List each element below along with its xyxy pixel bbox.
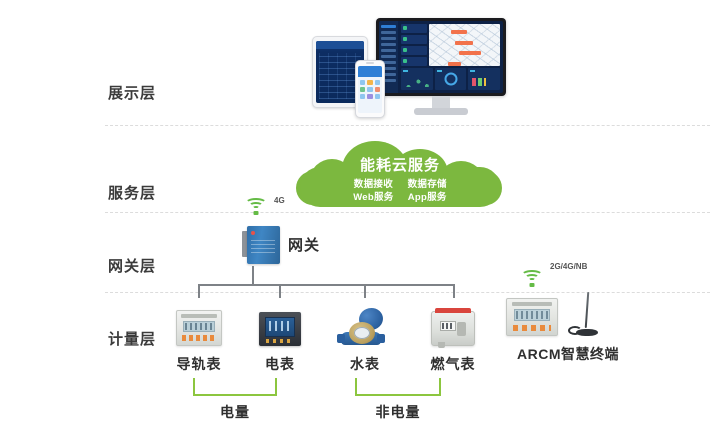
cloud-feature-column: 数据接收 Web服务	[353, 179, 393, 205]
layer-divider-display-service	[105, 125, 710, 126]
dashboard-kpi-cards	[401, 24, 427, 66]
grouping-bracket-non-electric	[355, 378, 441, 396]
dashboard-top-row	[401, 24, 500, 66]
gateway-network-label: 4G	[274, 196, 285, 205]
gateway-device-icon	[242, 226, 280, 264]
gas-meter-icon	[418, 306, 488, 350]
arcm-device-icon	[506, 298, 558, 336]
grouping-bracket-electric	[193, 378, 277, 396]
gas-meter-body	[431, 311, 475, 346]
layer-label-display: 展示层	[108, 82, 170, 103]
gas-meter-cap	[435, 308, 471, 313]
meter-terminal-block	[513, 325, 551, 331]
map-marker	[451, 30, 467, 34]
meter-keypad	[266, 339, 294, 343]
display-layer-devices	[300, 10, 520, 120]
meter-lcd-display	[514, 309, 550, 321]
antenna-icon	[568, 292, 602, 340]
meter-item-water: 水表	[330, 306, 400, 374]
arcm-terminal-label: ARCM智慧终端	[490, 344, 646, 364]
monitor-stand-neck	[432, 96, 450, 108]
meter-item-gas: 燃气表	[418, 306, 488, 374]
cloud-title: 能耗云服务	[360, 154, 440, 175]
cloud-feature-columns: 数据接收 Web服务 数据存储 App服务	[353, 179, 447, 205]
layer-label-meter: 计量层	[108, 328, 170, 349]
dashboard-main	[398, 21, 503, 93]
arcm-network-label: 2G/4G/NB	[550, 262, 587, 271]
cloud-feature-item: 数据存储	[408, 179, 447, 192]
gas-meter-inlet	[438, 342, 445, 348]
gas-meter-valve	[457, 322, 466, 336]
monitor-screen	[379, 21, 503, 93]
wifi-signal-icon	[520, 270, 544, 287]
antenna-rod	[585, 292, 590, 328]
map-marker	[448, 62, 461, 66]
phone-screen	[358, 66, 382, 113]
layer-divider-service-gateway	[105, 212, 710, 213]
dashboard-gauge-chart	[435, 68, 467, 90]
grouping-label-non-electric: 非电量	[338, 402, 458, 422]
panel-meter-body	[259, 312, 301, 346]
phone-speaker	[366, 62, 374, 64]
meter-item-power: 电表	[245, 306, 315, 374]
layer-label-gateway: 网关层	[108, 255, 170, 276]
map-marker	[459, 51, 481, 55]
smartphone-device	[355, 60, 385, 118]
cloud-feature-column: 数据存储 App服务	[408, 179, 447, 205]
antenna-cable	[568, 326, 582, 335]
map-marker	[455, 41, 473, 45]
dashboard-bar-chart	[468, 68, 500, 90]
meter-drop-line	[198, 284, 200, 298]
dashboard-line-chart	[401, 68, 433, 90]
monitor-bezel	[376, 18, 506, 96]
layer-label-service: 服务层	[108, 182, 170, 203]
meter-drop-line	[453, 284, 455, 298]
meter-bus-line	[198, 284, 454, 286]
meter-lcd-display	[183, 321, 215, 332]
cloud-feature-item: 数据接收	[353, 179, 393, 192]
arcm-network-group: 2G/4G/NB	[518, 262, 598, 288]
gateway-body	[247, 226, 280, 264]
cloud-feature-item: App服务	[408, 192, 447, 205]
meter-label: 电表	[245, 354, 315, 374]
cloud-content: 能耗云服务 数据接收 Web服务 数据存储 App服务	[296, 141, 504, 209]
gateway-stem-line	[252, 266, 254, 284]
meter-lcd-display	[265, 317, 295, 337]
meter-label: 水表	[330, 354, 400, 374]
water-meter-icon	[330, 306, 400, 350]
architecture-diagram: 展示层 服务层 网关层 计量层	[0, 0, 715, 443]
phone-app-grid	[360, 80, 380, 99]
meter-drop-line	[364, 284, 366, 298]
meter-label: 燃气表	[418, 354, 488, 374]
water-meter-dial	[349, 322, 375, 344]
gas-meter-register	[440, 321, 456, 331]
desktop-monitor-device	[376, 18, 506, 120]
meter-drop-line	[279, 284, 281, 298]
gateway-label: 网关	[288, 234, 320, 255]
cloud-feature-item: Web服务	[353, 192, 393, 205]
meter-terminal-block	[182, 335, 216, 341]
din-rail-meter-icon	[164, 306, 234, 350]
water-meter-body	[339, 308, 391, 348]
dashboard-bottom-row	[401, 68, 500, 90]
cloud-service-node: 能耗云服务 数据接收 Web服务 数据存储 App服务	[296, 141, 504, 209]
panel-power-meter-icon	[245, 306, 315, 350]
grouping-label-electric: 电量	[175, 402, 295, 422]
meter-label: 导轨表	[164, 354, 234, 374]
dashboard-map-panel	[429, 24, 500, 66]
arcm-terminal-node: 2G/4G/NB ARCM智慧终端	[498, 262, 638, 377]
meter-item-din-rail: 导轨表	[164, 306, 234, 374]
wifi-signal-icon	[244, 198, 268, 215]
din-rail-meter-body	[176, 310, 222, 346]
monitor-stand-base	[414, 108, 468, 115]
